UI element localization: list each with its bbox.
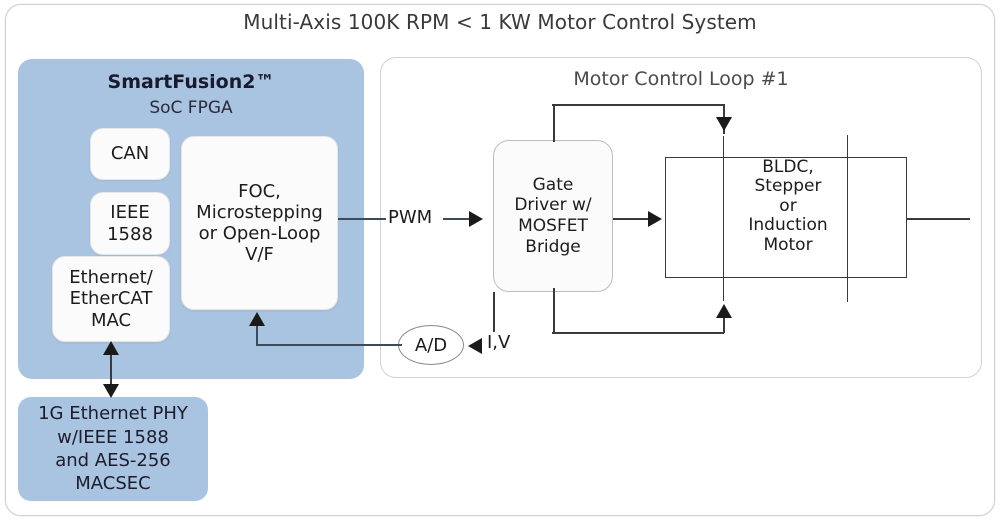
iv-sense-line [493,292,495,332]
arrow-up-icon-feedback-bottom [716,304,732,318]
pwm-line-left [338,218,386,220]
ethernet-ethercat-mac-block: Ethernet/EtherCATMAC [52,256,170,342]
ieee-1588-block: IEEE1588 [90,192,170,255]
feedback-top-horizontal-line [552,104,724,106]
feedback-bottom-horizontal-line [552,332,724,334]
arrow-up-icon-foc-feedback [249,312,265,326]
system-title: Multi-Axis 100K RPM < 1 KW Motor Control… [0,10,1000,34]
feedback-bottom-drop-line [553,288,555,333]
smartfusion2-title: SmartFusion2™ [18,71,364,93]
motor-label: BLDC,StepperorInductionMotor [688,158,888,255]
feedback-top-riser-line [553,104,555,142]
iv-label: I,V [487,332,510,353]
double-arrow-vertical-icon-down [103,384,119,398]
motor-shaft-line-right [847,135,848,302]
adc-to-foc-line [256,344,402,346]
gate-to-motor-line [613,218,651,220]
arrow-right-icon-gate-to-motor [648,211,662,227]
motor-output-shaft-line [907,218,970,220]
diagram-canvas: Multi-Axis 100K RPM < 1 KW Motor Control… [0,0,1000,525]
arrow-left-icon-adc-input [468,338,482,354]
can-block: CAN [90,128,170,180]
double-arrow-vertical-icon-up [103,341,119,355]
motor-control-loop-title: Motor Control Loop #1 [380,68,982,90]
arrow-right-icon-pwm [469,211,483,227]
pwm-label: PWM [388,207,432,228]
adc-block: A/D [398,325,464,365]
arrow-down-icon-feedback-top [716,117,732,131]
motor-shaft-line-left [723,136,724,301]
ethernet-phy-block: 1G Ethernet PHYw/IEEE 1588and AES-256MAC… [18,397,208,501]
foc-microstepping-block: FOC,Microsteppingor Open-LoopV/F [181,136,338,310]
gate-driver-mosfet-bridge-block: GateDriver w/MOSFETBridge [493,140,613,292]
smartfusion2-subtitle: SoC FPGA [18,98,364,118]
